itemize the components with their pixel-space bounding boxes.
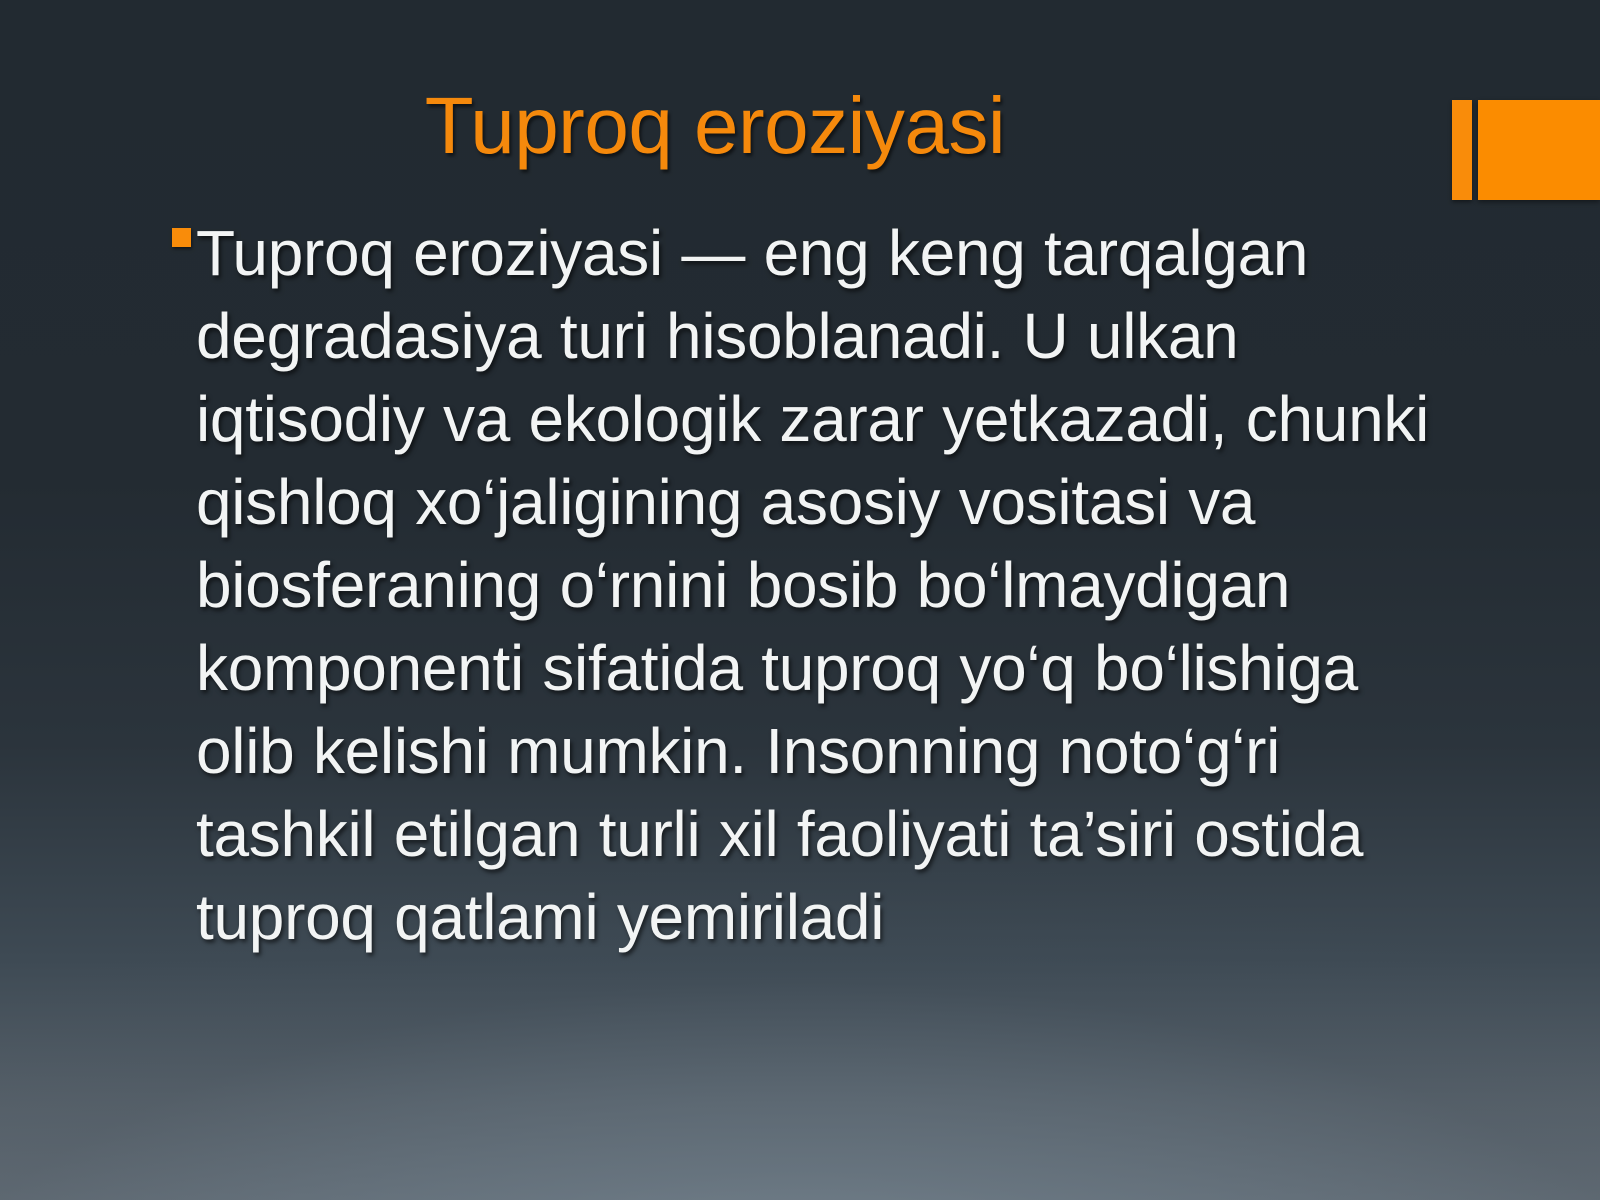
- presentation-slide: Tuproq eroziyasi Tuproq eroziyasi — eng …: [0, 0, 1600, 1200]
- square-bullet-icon: [172, 228, 191, 247]
- orange-vertical-bar-decoration: [1452, 100, 1472, 200]
- slide-title: Tuproq eroziyasi: [0, 86, 1430, 166]
- slide-body-text: Tuproq eroziyasi — eng keng tarqalgan de…: [196, 212, 1472, 959]
- orange-block-decoration: [1478, 100, 1600, 200]
- bullet-list-item: Tuproq eroziyasi — eng keng tarqalgan de…: [172, 212, 1472, 959]
